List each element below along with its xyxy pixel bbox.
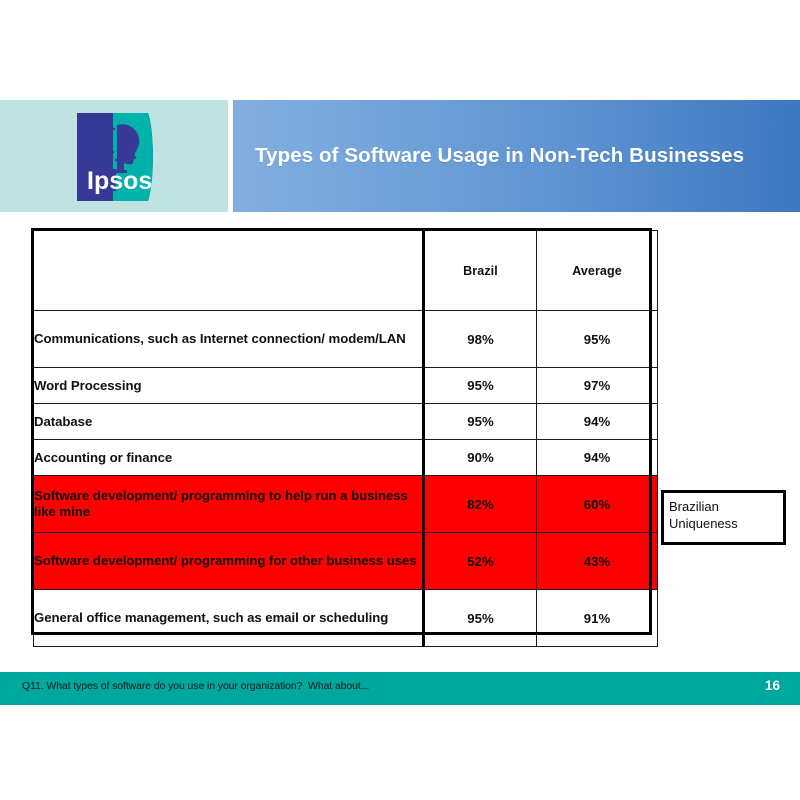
header-cell-label <box>34 231 424 311</box>
page-title: Types of Software Usage in Non-Tech Busi… <box>233 144 744 168</box>
row-label: Database <box>34 404 424 440</box>
row-label: Software development/ programming for ot… <box>34 533 424 590</box>
row-value-average: 95% <box>537 311 658 368</box>
header-cell-average: Average <box>537 231 658 311</box>
table-row[interactable]: General office management, such as email… <box>34 590 658 647</box>
table-row[interactable]: Word Processing 95% 97% <box>34 368 658 404</box>
slide-header: Ipsos Types of Software Usage in Non-Tec… <box>0 100 800 212</box>
row-label: Accounting or finance <box>34 440 424 476</box>
row-label: Software development/ programming to hel… <box>34 476 424 533</box>
row-value-brazil: 95% <box>424 368 537 404</box>
table-row-highlighted[interactable]: Software development/ programming to hel… <box>34 476 658 533</box>
logo-panel: Ipsos <box>0 100 228 212</box>
row-value-average: 97% <box>537 368 658 404</box>
table-row[interactable]: Database 95% 94% <box>34 404 658 440</box>
table-row[interactable]: Communications, such as Internet connect… <box>34 311 658 368</box>
slide-footer: Q11. What types of software do you use i… <box>0 672 800 705</box>
row-value-average: 91% <box>537 590 658 647</box>
row-value-brazil: 52% <box>424 533 537 590</box>
software-usage-table: Brazil Average Communications, such as I… <box>33 230 658 647</box>
row-label: Communications, such as Internet connect… <box>34 311 424 368</box>
row-value-brazil: 95% <box>424 404 537 440</box>
row-label: General office management, such as email… <box>34 590 424 647</box>
footer-question-note: Q11. What types of software do you use i… <box>22 680 369 692</box>
row-value-average: 94% <box>537 404 658 440</box>
callout-line-2: Uniqueness <box>669 515 783 532</box>
row-value-brazil: 90% <box>424 440 537 476</box>
title-panel: Types of Software Usage in Non-Tech Busi… <box>233 100 800 212</box>
table-row-highlighted[interactable]: Software development/ programming for ot… <box>34 533 658 590</box>
row-value-brazil: 95% <box>424 590 537 647</box>
row-value-brazil: 98% <box>424 311 537 368</box>
page-number: 16 <box>765 678 780 693</box>
row-label: Word Processing <box>34 368 424 404</box>
callout-line-1: Brazilian <box>669 498 783 515</box>
row-value-brazil: 82% <box>424 476 537 533</box>
header-cell-brazil: Brazil <box>424 231 537 311</box>
ipsos-logo-icon: Ipsos <box>77 113 160 201</box>
logo-wordmark: Ipsos <box>87 167 152 195</box>
row-value-average: 60% <box>537 476 658 533</box>
callout-brazilian-uniqueness: Brazilian Uniqueness <box>661 490 786 545</box>
row-value-average: 94% <box>537 440 658 476</box>
row-value-average: 43% <box>537 533 658 590</box>
table-row[interactable]: Accounting or finance 90% 94% <box>34 440 658 476</box>
table-header-row: Brazil Average <box>34 231 658 311</box>
